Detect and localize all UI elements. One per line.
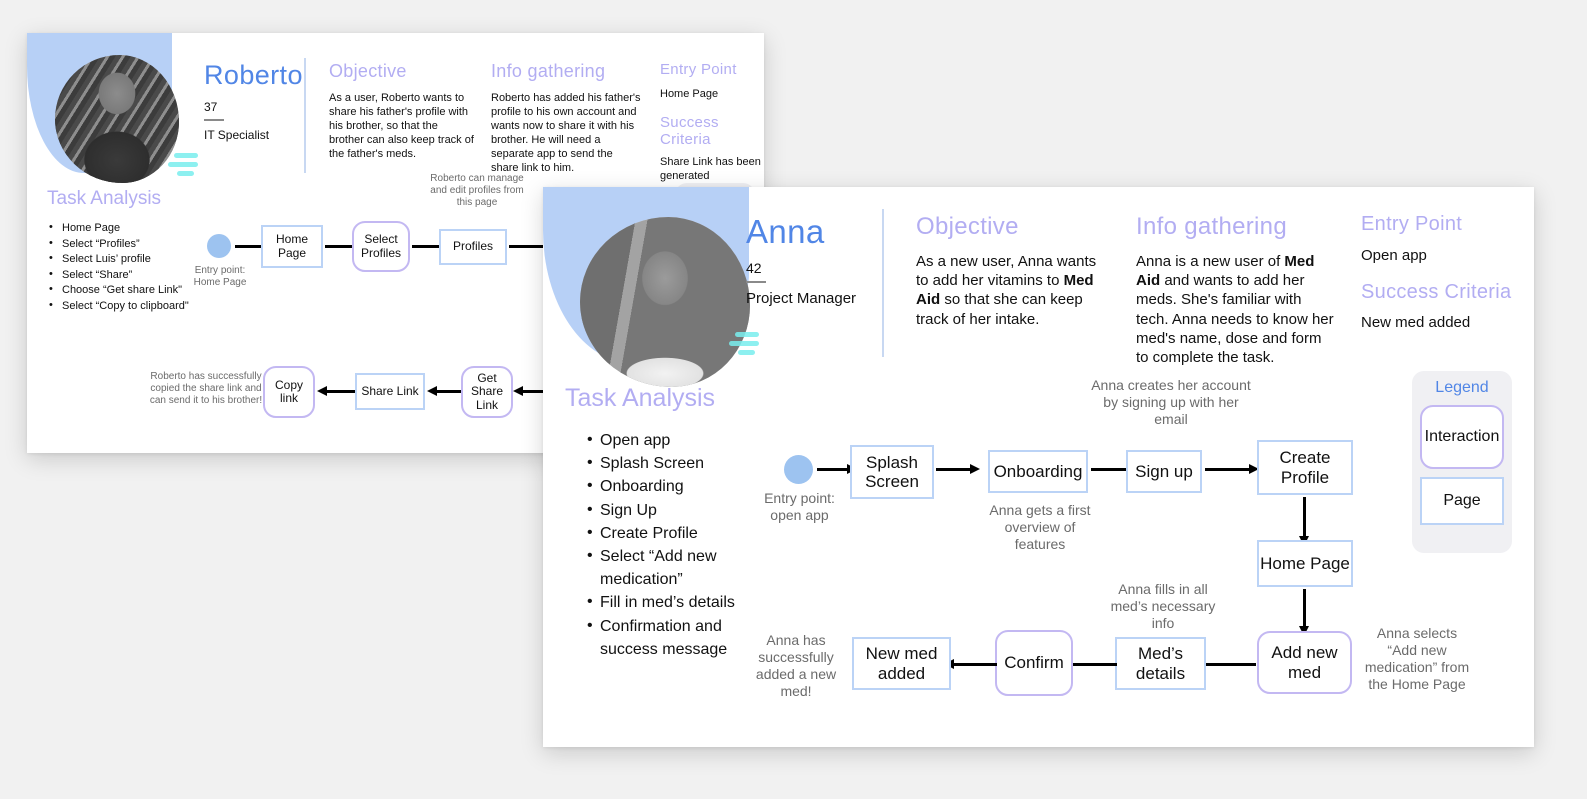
objective-body: As a new user, Anna wants to add her vit… <box>916 252 1106 329</box>
flow-annotation: Anna selects “Add new medication” from t… <box>1361 625 1473 693</box>
flow-node-profiles[interactable]: Profiles <box>439 229 507 265</box>
flow-node-copy-link[interactable]: Copy link <box>263 366 315 418</box>
entry-point-label: Entry point: Home Page <box>180 265 260 289</box>
avatar-photo-anna <box>580 217 750 387</box>
entry-point-body: Home Page <box>660 87 764 101</box>
list-item: Fill in med’s details <box>585 591 775 614</box>
persona-header-anna: Anna 42 Project Manager Objective As a n… <box>543 187 1534 387</box>
info-gathering-body: Anna is a new user of Med Aid and wants … <box>1136 252 1334 367</box>
vertical-divider <box>304 58 306 173</box>
flow-node-meds-details[interactable]: Med’s details <box>1115 637 1206 690</box>
task-analysis-title: Task Analysis <box>47 188 207 210</box>
persona-age: 37 <box>204 100 299 114</box>
persona-card-anna: Anna 42 Project Manager Objective As a n… <box>543 187 1534 747</box>
flow-arrow <box>936 468 971 471</box>
success-criteria-body: New med added <box>1361 313 1526 332</box>
list-item: Splash Screen <box>585 452 775 475</box>
canvas: Roberto 37 IT Specialist Objective As a … <box>0 0 1587 799</box>
accent-marks-icon <box>168 153 198 180</box>
objective-heading: Objective <box>329 61 475 82</box>
task-analysis-list: Open app Splash Screen Onboarding Sign U… <box>585 429 775 661</box>
objective-body-post: so that she can keep track of her intake… <box>916 291 1083 327</box>
flow-annotation: Roberto can manage and edit profiles fro… <box>425 173 529 210</box>
persona-name: Roberto <box>204 60 299 91</box>
list-item: Create Profile <box>585 522 775 545</box>
flow-node-sign-up[interactable]: Sign up <box>1126 450 1202 493</box>
success-criteria-body: Share Link has been generated <box>660 155 764 183</box>
flow-arrow <box>1303 497 1306 537</box>
flow-annotation: Anna has successfully added a new med! <box>748 632 844 700</box>
flow-node-get-share-link[interactable]: Get Share Link <box>461 366 513 418</box>
avatar <box>55 55 179 183</box>
success-criteria-heading: Success Criteria <box>660 114 764 148</box>
divider <box>746 281 766 283</box>
list-item: Select “Add new medication” <box>585 545 775 591</box>
flow-arrow <box>1071 663 1117 666</box>
flow-node-create-profile[interactable]: Create Profile <box>1257 440 1353 495</box>
flow-node-onboarding[interactable]: Onboarding <box>988 450 1088 493</box>
divider <box>204 119 224 121</box>
flow-node-share-link[interactable]: Share Link <box>355 373 425 410</box>
flow-arrow <box>1205 468 1250 471</box>
legend-item-interaction: Interaction <box>1420 405 1504 469</box>
objective-body: As a user, Roberto wants to share his fa… <box>329 91 475 161</box>
avatar-photo-roberto <box>55 55 179 183</box>
entry-point-label: Entry point: open app <box>748 490 851 524</box>
list-item: Sign Up <box>585 499 775 522</box>
flow-arrow <box>412 245 441 248</box>
persona-role: IT Specialist <box>204 128 299 142</box>
flow-arrow <box>325 245 354 248</box>
info-gathering-heading: Info gathering <box>491 61 643 82</box>
flow-annotation: Anna creates her account by signing up w… <box>1091 377 1251 428</box>
flow-arrow <box>1303 589 1306 627</box>
legend-item-page: Page <box>1420 477 1504 525</box>
persona-role: Project Manager <box>746 290 866 307</box>
flow-node-home-page[interactable]: Home Page <box>1257 540 1353 587</box>
info-gathering-heading: Info gathering <box>1136 213 1334 241</box>
flow-arrow <box>953 663 997 666</box>
list-item: Confirmation and success message <box>585 615 775 661</box>
flow-node-splash-screen[interactable]: Splash Screen <box>850 445 934 499</box>
info-gathering-body-pre: Anna is a new user of <box>1136 253 1284 270</box>
list-item: Select “Copy to clipboard" <box>47 299 207 315</box>
list-item: Onboarding <box>585 475 775 498</box>
flow-node-add-new-med[interactable]: Add new med <box>1257 631 1352 694</box>
task-analysis-roberto: Task Analysis Home Page Select “Profiles… <box>47 188 207 315</box>
flow-node-confirm[interactable]: Confirm <box>995 630 1073 696</box>
avatar <box>580 217 750 387</box>
legend-anna: Legend Interaction Page <box>1412 371 1512 553</box>
persona-header-roberto: Roberto 37 IT Specialist Objective As a … <box>27 33 764 193</box>
persona-name: Anna <box>746 213 866 251</box>
list-item: Home Page <box>47 221 207 237</box>
entry-point-dot <box>784 455 813 484</box>
flow-node-select-profiles[interactable]: Select Profiles <box>352 221 410 272</box>
legend-title: Legend <box>1435 379 1488 397</box>
flow-arrow <box>326 390 357 393</box>
info-gathering-body: Roberto has added his father's profile t… <box>491 91 643 175</box>
task-analysis-title: Task Analysis <box>565 384 775 413</box>
flow-node-new-med-added[interactable]: New med added <box>852 637 951 690</box>
flow-annotation: Roberto has successfully copied the shar… <box>142 371 270 408</box>
list-item: Open app <box>585 429 775 452</box>
persona-age: 42 <box>746 260 866 276</box>
entry-point-heading: Entry Point <box>1361 213 1526 236</box>
entry-point-body: Open app <box>1361 246 1526 265</box>
vertical-divider <box>882 209 884 357</box>
flow-arrow <box>1091 468 1127 471</box>
list-item: Select “Profiles” <box>47 237 207 253</box>
flow-annotation: Anna gets a first overview of features <box>981 502 1099 553</box>
objective-heading: Objective <box>916 213 1106 241</box>
task-analysis-anna: Task Analysis Open app Splash Screen Onb… <box>565 384 775 661</box>
success-criteria-heading: Success Criteria <box>1361 281 1526 304</box>
flow-node-home-page[interactable]: Home Page <box>261 225 323 268</box>
flow-annotation: Anna fills in all med’s necessary info <box>1108 581 1218 632</box>
flow-arrow <box>817 468 848 471</box>
info-gathering-body-post: and wants to add her meds. She's familia… <box>1136 272 1334 366</box>
entry-point-dot <box>207 234 231 258</box>
entry-point-heading: Entry Point <box>660 61 764 78</box>
accent-marks-icon <box>729 332 759 359</box>
